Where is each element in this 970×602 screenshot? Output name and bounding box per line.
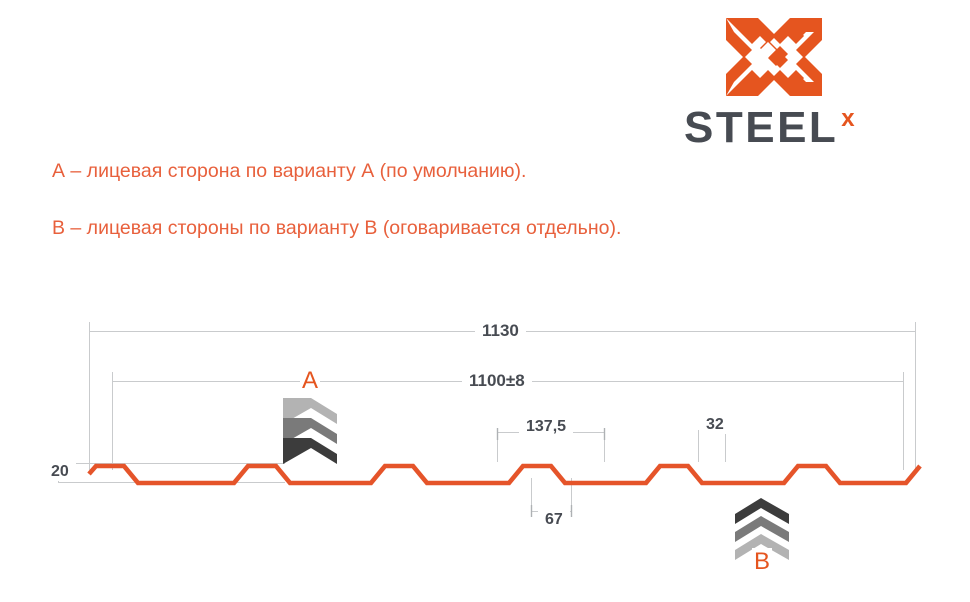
dim-label-rib-pitch: 137,5 — [519, 418, 573, 436]
dim-label-useful-width: 1100±8 — [462, 371, 532, 391]
corrugated-profile-path — [89, 466, 920, 483]
dim-label-valley-width: 67 — [538, 511, 570, 529]
marker-a-chevrons — [283, 398, 337, 464]
marker-b-label: В — [752, 548, 772, 576]
dim-label-overall-width: 1130 — [475, 321, 526, 341]
dim-label-profile-height: 20 — [44, 463, 76, 481]
dim-label-rib-top-width: 32 — [699, 416, 731, 434]
marker-a-label: А — [300, 367, 320, 395]
profile-technical-drawing: 1130 1100±8 137,5 32 67 20 А В — [0, 0, 970, 597]
